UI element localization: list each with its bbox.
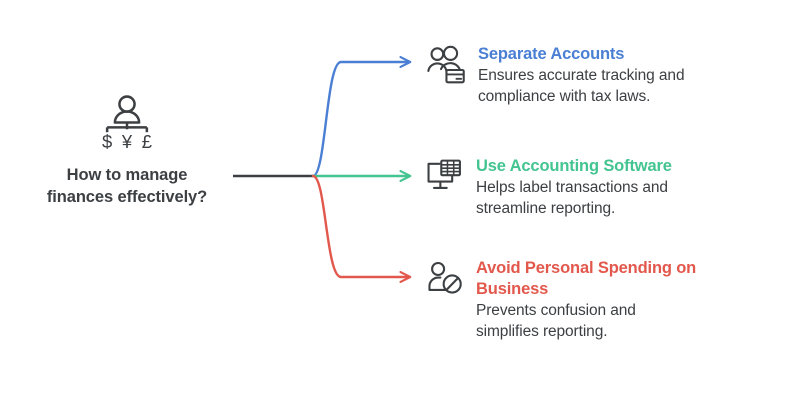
person-prohibited-icon <box>424 259 464 299</box>
branch-text-container: Avoid Personal Spending on Business Prev… <box>476 258 754 343</box>
branch-separate-accounts[interactable]: Separate Accounts Ensures accurate track… <box>420 44 756 108</box>
currency-pound-glyph: £ <box>142 131 152 152</box>
branch-text-container: Use Accounting Software Helps label tran… <box>476 156 754 220</box>
branch-description: Prevents confusion andsimplifies reporti… <box>476 301 754 343</box>
diagram-canvas: $ ¥ £ How to managefinances effectively? <box>0 0 786 402</box>
branch-description: Ensures accurate tracking andcompliance … <box>478 66 756 108</box>
branch-title: Avoid Personal Spending on Business <box>476 258 754 300</box>
currency-yen-glyph: ¥ <box>121 131 133 152</box>
branch-avoid-personal-spending[interactable]: Avoid Personal Spending on Business Prev… <box>418 258 754 343</box>
branch-text-container: Separate Accounts Ensures accurate track… <box>478 44 756 108</box>
root-question-label: How to managefinances effectively? <box>47 164 207 209</box>
branch-description: Helps label transactions andstreamline r… <box>476 178 754 220</box>
currency-dollar-glyph: $ <box>102 131 112 152</box>
branch-title: Separate Accounts <box>478 44 756 65</box>
branch-icon-container <box>418 258 470 299</box>
person-with-currencies-icon: $ ¥ £ <box>96 92 158 154</box>
branch-icon-container <box>418 156 470 197</box>
two-people-with-card-icon <box>426 45 466 85</box>
branch-use-accounting-software[interactable]: Use Accounting Software Helps label tran… <box>418 156 754 220</box>
connector-branch-separate-accounts <box>313 62 409 176</box>
branch-title: Use Accounting Software <box>476 156 754 177</box>
monitor-spreadsheet-icon <box>424 157 464 197</box>
root-node: $ ¥ £ How to managefinances effectively? <box>18 92 236 209</box>
branch-icon-container <box>420 44 472 85</box>
connector-branch-avoid-personal-spending <box>313 176 409 277</box>
